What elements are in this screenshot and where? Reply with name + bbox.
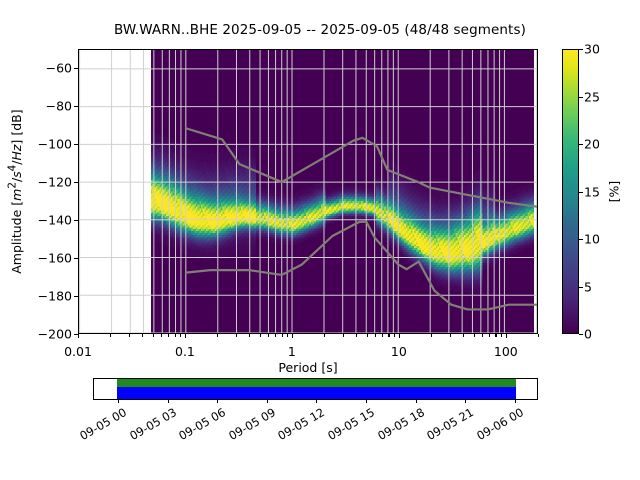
x-tick-label: 1 bbox=[288, 339, 296, 359]
colorbar-label: [%] bbox=[605, 49, 623, 334]
ppsd-figure: BW.WARN..BHE 2025-09-05 -- 2025-09-05 (4… bbox=[0, 0, 640, 480]
x-tick-mark bbox=[161, 334, 162, 337]
colorbar-label-text: [%] bbox=[607, 181, 622, 203]
x-tick-mark bbox=[506, 334, 507, 338]
x-tick-mark bbox=[153, 334, 154, 337]
x-tick-mark bbox=[538, 334, 539, 337]
x-tick-mark bbox=[463, 334, 464, 337]
colorbar-tick-mark bbox=[579, 287, 583, 288]
x-tick-mark bbox=[324, 334, 325, 337]
y-tick-label: −160 bbox=[38, 251, 78, 266]
x-tick-mark bbox=[287, 334, 288, 337]
y-tick-mark bbox=[74, 106, 78, 107]
x-tick-mark bbox=[185, 334, 186, 338]
y-tick-mark bbox=[74, 182, 78, 183]
x-tick-mark bbox=[142, 334, 143, 337]
y-tick-label: −100 bbox=[38, 137, 78, 152]
x-tick-mark bbox=[282, 334, 283, 337]
x-tick-mark bbox=[168, 334, 169, 337]
x-tick-mark bbox=[110, 334, 111, 337]
coverage-tick-label: 09-05 03 bbox=[127, 405, 179, 443]
colorbar-tick-label: 20 bbox=[584, 137, 600, 152]
x-tick-mark bbox=[129, 334, 130, 337]
y-tick-mark bbox=[74, 258, 78, 259]
y-tick-mark bbox=[74, 144, 78, 145]
coverage-axes[interactable]: 09-05 0009-05 0309-05 0609-05 0909-05 12… bbox=[93, 378, 538, 400]
ppsd-axes[interactable] bbox=[78, 49, 538, 334]
x-tick-mark bbox=[356, 334, 357, 337]
coverage-tick-label: 09-05 15 bbox=[325, 405, 377, 443]
y-tick-label: −180 bbox=[38, 289, 78, 304]
y-axis-label: Amplitude [m2/s4/Hz] [dB] bbox=[6, 49, 24, 334]
x-tick-mark bbox=[375, 334, 376, 337]
x-tick-mark bbox=[260, 334, 261, 337]
x-tick-mark bbox=[367, 334, 368, 337]
x-tick-mark bbox=[343, 334, 344, 337]
x-axis-label: Period [s] bbox=[78, 360, 538, 375]
x-tick-mark bbox=[489, 334, 490, 337]
y-axis-label-text: Amplitude [m2/s4/Hz] [dB] bbox=[6, 109, 23, 273]
coverage-data-bar bbox=[117, 379, 516, 387]
coverage-tick-mark bbox=[416, 399, 417, 403]
x-tick-label: 10 bbox=[391, 339, 407, 359]
x-tick-mark bbox=[474, 334, 475, 337]
colorbar-tick-label: 15 bbox=[584, 184, 600, 199]
coverage-tick-mark bbox=[168, 399, 169, 403]
x-tick-mark bbox=[482, 334, 483, 337]
y-tick-mark bbox=[74, 296, 78, 297]
colorbar-tick-label: 5 bbox=[584, 279, 592, 294]
coverage-tick-label: 09-05 12 bbox=[276, 405, 328, 443]
x-tick-mark bbox=[394, 334, 395, 337]
y-tick-mark bbox=[74, 68, 78, 69]
x-tick-mark bbox=[495, 334, 496, 337]
x-tick-mark bbox=[431, 334, 432, 337]
colorbar-tick-mark bbox=[579, 49, 583, 50]
x-tick-mark bbox=[268, 334, 269, 337]
coverage-tick-mark bbox=[217, 399, 218, 403]
coverage-tick-mark bbox=[515, 399, 516, 403]
coverage-tick-mark bbox=[465, 399, 466, 403]
noise-model-curves bbox=[79, 50, 537, 333]
x-tick-mark bbox=[249, 334, 250, 337]
colorbar-tick-mark bbox=[579, 334, 583, 335]
coverage-tick-mark bbox=[366, 399, 367, 403]
x-tick-label: 100 bbox=[494, 339, 518, 359]
x-tick-mark bbox=[450, 334, 451, 337]
x-tick-label: 0.01 bbox=[64, 339, 92, 359]
x-tick-mark bbox=[236, 334, 237, 337]
coverage-tick-label: 09-05 21 bbox=[424, 405, 476, 443]
colorbar-tick-label: 10 bbox=[584, 232, 600, 247]
colorbar-tick-mark bbox=[579, 97, 583, 98]
coverage-tick-mark bbox=[316, 399, 317, 403]
colorbar-tick-mark bbox=[579, 192, 583, 193]
colorbar-tick-label: 25 bbox=[584, 89, 600, 104]
coverage-tick-label: 09-05 18 bbox=[375, 405, 427, 443]
coverage-psd-bar bbox=[117, 387, 516, 399]
x-tick-mark bbox=[382, 334, 383, 337]
x-tick-mark bbox=[275, 334, 276, 337]
coverage-tick-mark bbox=[118, 399, 119, 403]
y-tick-mark bbox=[74, 220, 78, 221]
coverage-tick-label: 09-05 00 bbox=[77, 405, 129, 443]
colorbar-tick-mark bbox=[579, 239, 583, 240]
x-tick-mark bbox=[175, 334, 176, 337]
x-tick-mark bbox=[78, 334, 79, 338]
x-tick-label: 0.1 bbox=[175, 339, 195, 359]
y-tick-label: −140 bbox=[38, 213, 78, 228]
coverage-tick-mark bbox=[267, 399, 268, 403]
colorbar bbox=[562, 49, 579, 334]
y-tick-label: −120 bbox=[38, 175, 78, 190]
x-tick-mark bbox=[501, 334, 502, 337]
colorbar-tick-mark bbox=[579, 144, 583, 145]
x-tick-mark bbox=[388, 334, 389, 337]
plot-title: BW.WARN..BHE 2025-09-05 -- 2025-09-05 (4… bbox=[0, 22, 640, 38]
colorbar-tick-label: 30 bbox=[584, 42, 600, 57]
coverage-tick-label: 09-05 09 bbox=[226, 405, 278, 443]
colorbar-tick-label: 0 bbox=[584, 327, 592, 342]
coverage-tick-label: 09-05 06 bbox=[176, 405, 228, 443]
x-tick-mark bbox=[399, 334, 400, 338]
coverage-tick-label: 09-06 00 bbox=[474, 405, 526, 443]
x-tick-mark bbox=[292, 334, 293, 338]
x-tick-mark bbox=[180, 334, 181, 337]
x-tick-mark bbox=[217, 334, 218, 337]
